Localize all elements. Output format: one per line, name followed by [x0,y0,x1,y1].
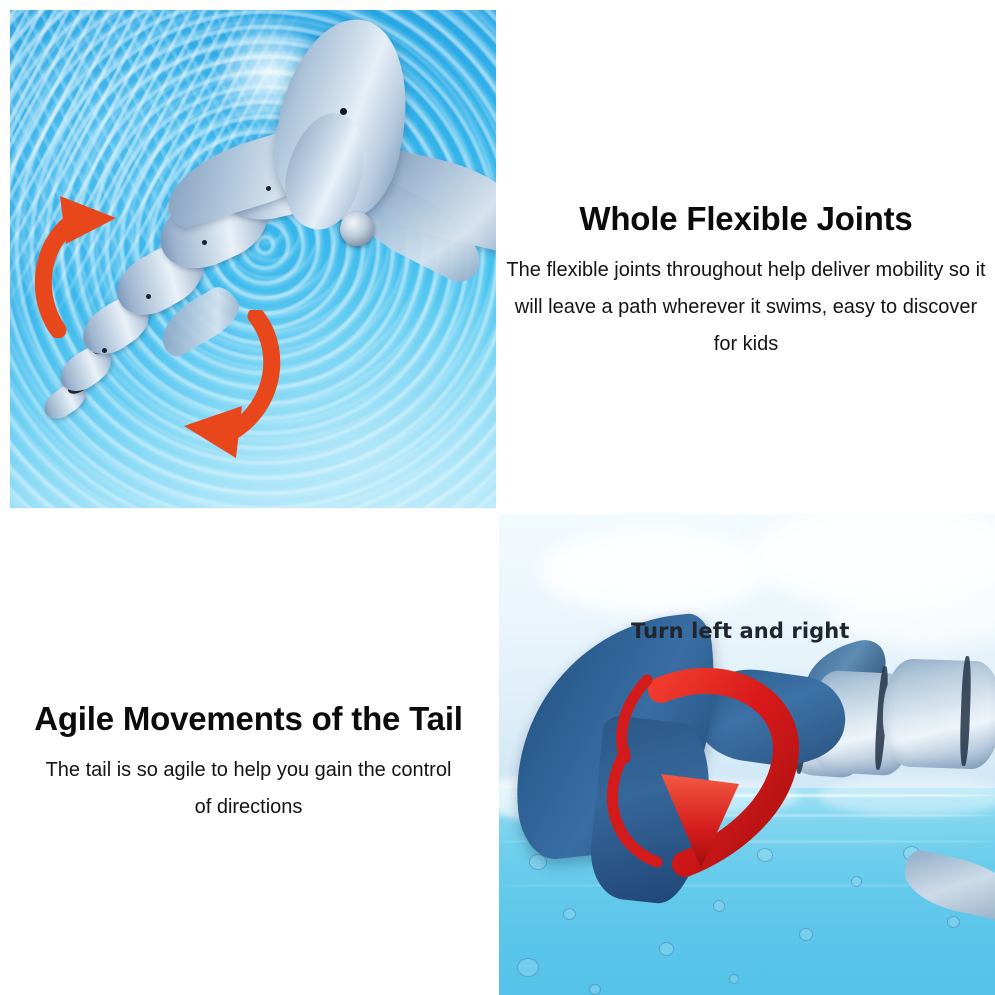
product-feature-collage: Whole Flexible Joints The flexible joint… [0,0,995,995]
shark-rivet [202,240,207,245]
shark-tail-screw [340,212,374,246]
cloud [539,528,769,614]
shark-rivet [102,348,107,353]
shark-rivet [266,186,271,191]
heading-agile-tail: Agile Movements of the Tail [0,700,497,738]
feature-text-flexible-joints: Whole Flexible Joints The flexible joint… [497,200,995,363]
bubble [947,916,960,928]
feature-text-agile-tail: Agile Movements of the Tail The tail is … [0,700,497,826]
shark-body-segment [881,658,995,770]
caption-turn-left-and-right: Turn left and right [631,619,849,643]
bubble [563,908,576,920]
rotation-arrow-icon [589,656,809,886]
body-flexible-joints: The flexible joints throughout help deli… [497,252,995,363]
bubble [799,928,813,941]
heading-flexible-joints: Whole Flexible Joints [497,200,995,238]
surf-foam [819,776,995,816]
bubble [659,942,674,956]
bubble [589,984,601,995]
bubble [713,900,725,912]
shark-eye [340,108,347,115]
bubble [729,974,739,984]
bubble [517,958,539,977]
photo-flexible-joints [10,10,496,508]
body-agile-tail: The tail is so agile to help you gain th… [0,752,497,826]
motion-arrow-down-icon [140,310,300,460]
photo-agile-tail: Turn left and right [499,514,995,995]
